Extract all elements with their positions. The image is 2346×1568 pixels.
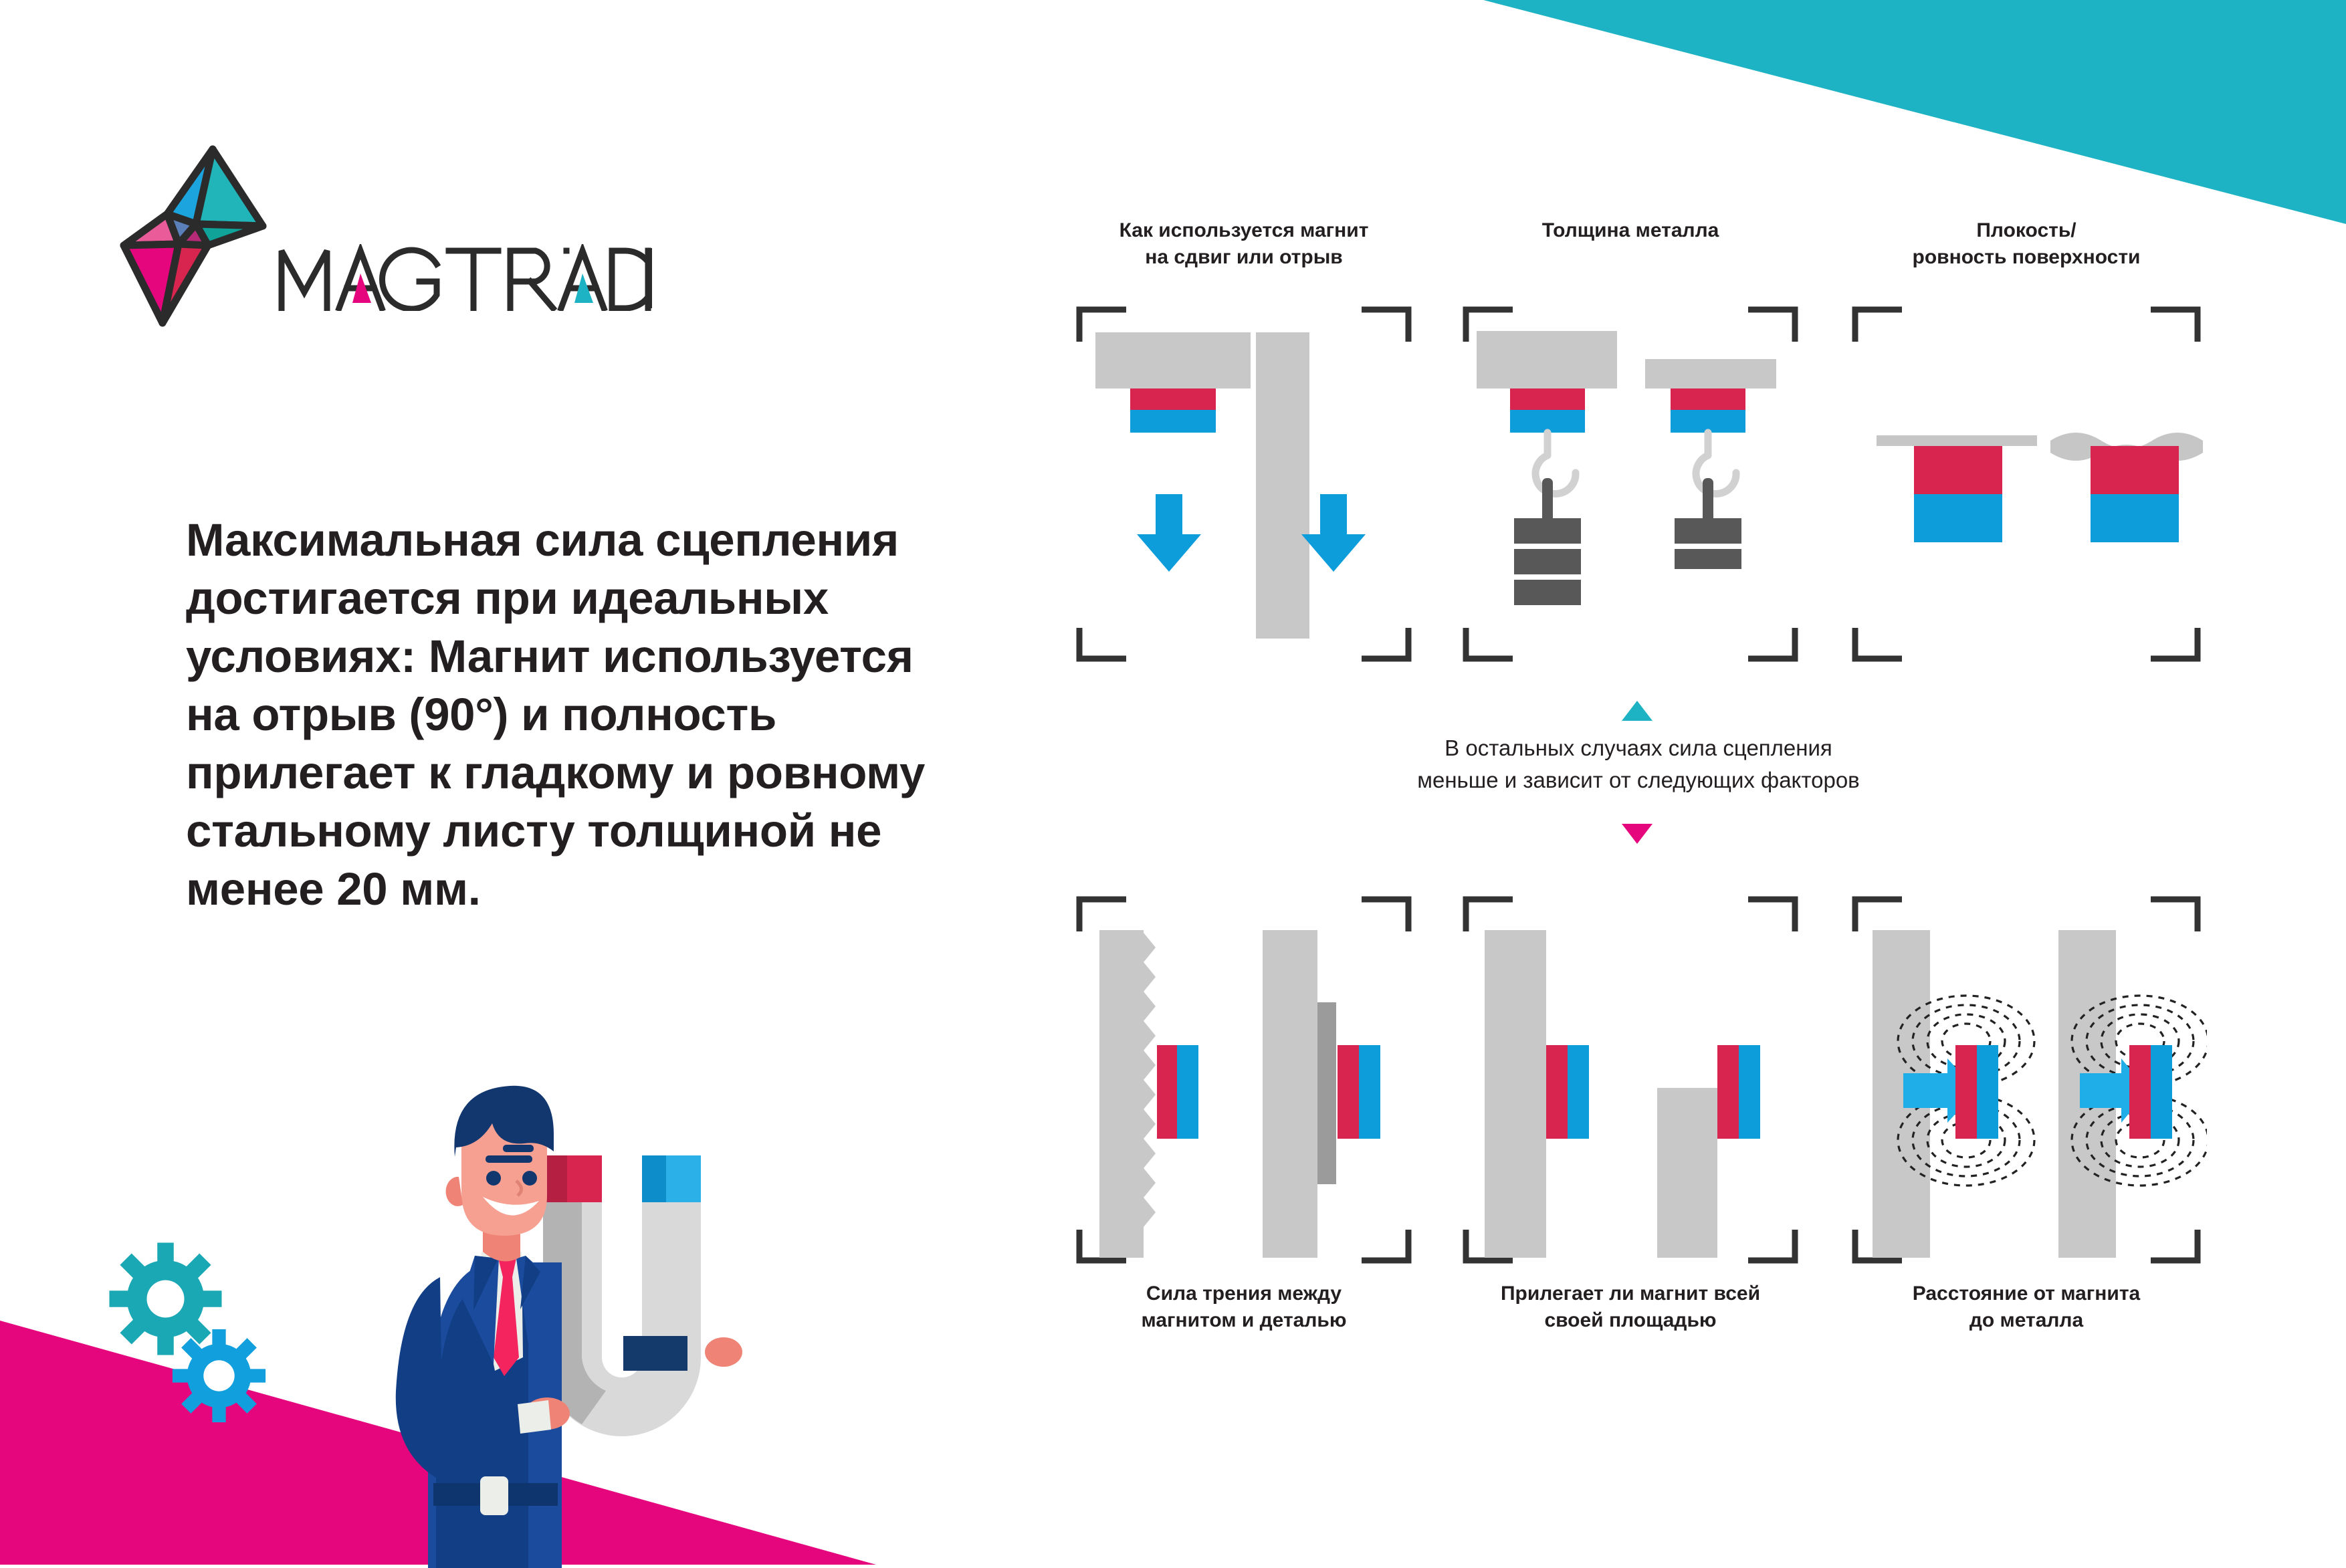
panel-title: Плокость/ ровность поверхности bbox=[1846, 217, 2207, 270]
panel-title: Толщина металла bbox=[1457, 217, 1804, 244]
businessman-with-magnet-illustration bbox=[361, 1077, 829, 1568]
arrow-down-icon bbox=[1622, 824, 1652, 844]
magtrade-diamond-logo-icon bbox=[117, 144, 288, 328]
brand-wordmark bbox=[278, 244, 652, 311]
panel-title: Как используется магнит на сдвиг или отр… bbox=[1070, 217, 1418, 270]
character-figure bbox=[396, 1086, 570, 1568]
horseshoe-magnet-icon bbox=[543, 1155, 742, 1436]
magnet-hook-weights-icon bbox=[1457, 303, 1804, 665]
page-headline: Максимальная сила сцепления достигается … bbox=[186, 512, 942, 919]
teal-corner-wedge bbox=[1483, 0, 2346, 224]
panel-surface-flatness: Плокость/ ровность поверхности bbox=[1846, 217, 2207, 665]
full-vs-partial-contact-icon bbox=[1457, 893, 1804, 1267]
panel-usage-mode: Как используется магнит на сдвиг или отр… bbox=[1070, 217, 1418, 665]
brand-logo bbox=[117, 144, 786, 277]
panel-caption: Сила трения между магнитом и деталью bbox=[1070, 1280, 1418, 1333]
gear-icon bbox=[171, 1327, 268, 1424]
magnet-pull-vs-shear-icon bbox=[1070, 303, 1418, 665]
panel-friction-force: Сила трения между магнитом и деталью bbox=[1070, 893, 1418, 1347]
flat-vs-wavy-surface-icon bbox=[1846, 303, 2207, 665]
panel-caption: Расстояние от магнита до металла bbox=[1846, 1280, 2207, 1333]
rough-vs-smooth-surface-icon bbox=[1070, 893, 1418, 1267]
panel-caption: Прилегает ли магнит всей своей площадью bbox=[1457, 1280, 1804, 1333]
panel-air-gap-distance: Расстояние от магнита до металла bbox=[1846, 893, 2207, 1347]
middle-note: В остальных случаях сила сцепления меньш… bbox=[1271, 732, 2006, 796]
panel-contact-area: Прилегает ли магнит всей своей площадью bbox=[1457, 893, 1804, 1347]
arrow-up-icon bbox=[1622, 701, 1652, 721]
magnetic-field-gap-icon bbox=[1846, 893, 2207, 1267]
panel-metal-thickness: Толщина металла bbox=[1457, 217, 1804, 665]
